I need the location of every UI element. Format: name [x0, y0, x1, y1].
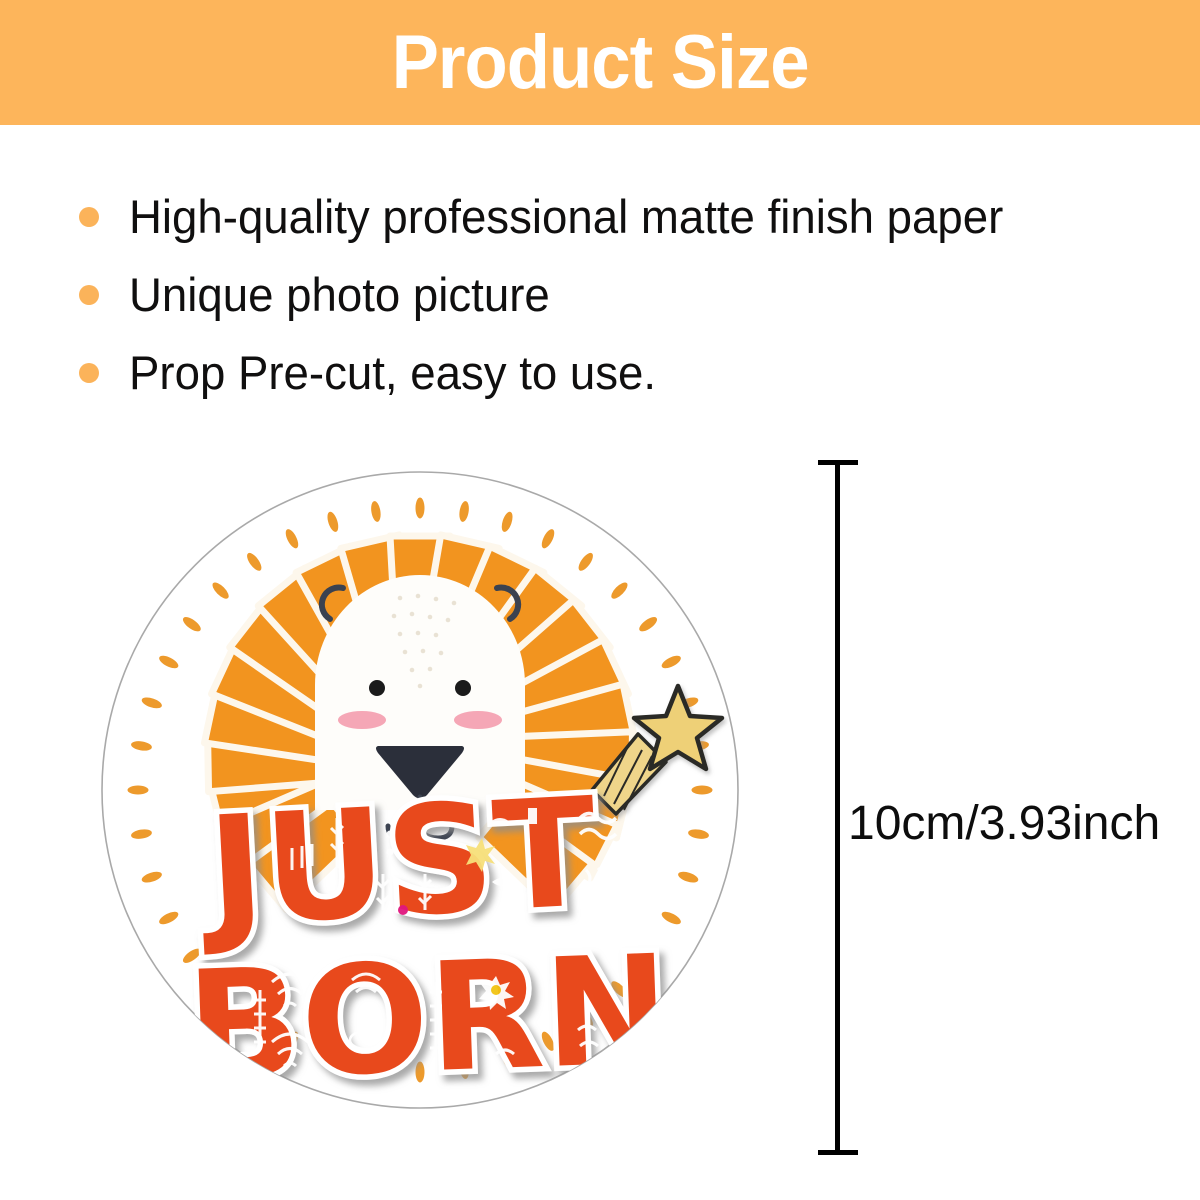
feature-text: Prop Pre-cut, easy to use.: [129, 348, 656, 398]
list-item: High-quality professional matte finish p…: [72, 178, 1152, 256]
dimension-measure: 10cm/3.93inch: [812, 450, 1192, 1170]
lion-cheek-left: [338, 711, 386, 729]
dimension-label: 10cm/3.93inch: [848, 798, 1160, 850]
list-item: Unique photo picture: [72, 256, 1152, 334]
header-banner: Product Size: [0, 0, 1200, 125]
bullet-dot-icon: [79, 207, 99, 227]
lion-eye-right: [455, 680, 471, 696]
bullet-dot-icon: [79, 363, 99, 383]
feature-text: Unique photo picture: [129, 270, 550, 320]
page-title: Product Size: [392, 23, 809, 103]
list-item: Prop Pre-cut, easy to use.: [72, 334, 1152, 412]
lion-eye-left: [369, 680, 385, 696]
svg-text:BORN: BORN: [184, 924, 673, 1110]
word-born: BORN: [184, 924, 673, 1110]
bullet-dot-icon: [79, 285, 99, 305]
feature-list: High-quality professional matte finish p…: [72, 178, 1152, 412]
feature-text: High-quality professional matte finish p…: [129, 192, 1003, 242]
lion-cheek-right: [454, 711, 502, 729]
product-image: JUST BORN: [100, 470, 740, 1110]
